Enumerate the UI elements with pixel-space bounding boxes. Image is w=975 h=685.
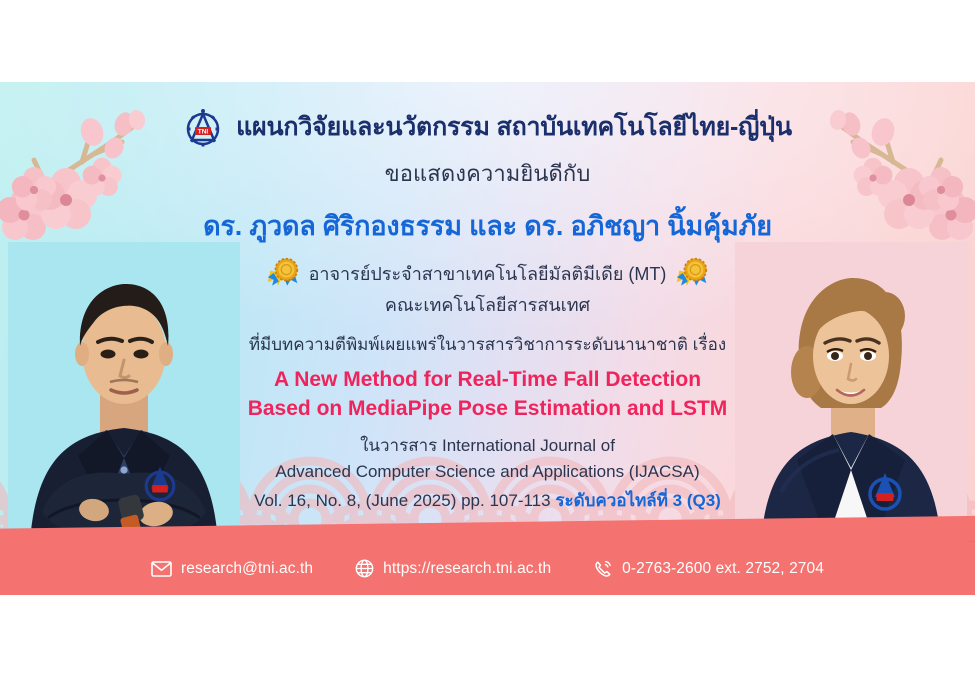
volume-line: Vol. 16, No. 8, (June 2025) pp. 107-113 … <box>254 487 721 514</box>
organization-title: แผนกวิจัยและนวัตกรรม สถาบันเทคโนโลยีไทย-… <box>236 107 792 147</box>
email-text: research@tni.ac.th <box>181 560 313 578</box>
department-text: อาจารย์ประจำสาขาเทคโนโลยีมัลติมีเดีย (MT… <box>309 259 667 288</box>
publication-intro: ที่มีบทความตีพิมพ์เผยแพร่ในวารสารวิชาการ… <box>249 331 726 358</box>
website-text: https://research.tni.ac.th <box>383 560 551 578</box>
organization-header: TNI แผนกวิจัยและนวัตกรรม สถาบันเทคโนโลยี… <box>183 104 792 150</box>
banner-content: TNI แผนกวิจัยและนวัตกรรม สถาบันเทคโนโลยี… <box>0 82 975 542</box>
envelope-icon <box>151 561 172 577</box>
quartile-badge: ระดับควอไทล์ที่ 3 (Q3) <box>555 491 721 510</box>
congratulation-banner: TNI แผนกวิจัยและนวัตกรรม สถาบันเทคโนโลยี… <box>0 82 975 595</box>
contact-phone[interactable]: 0-2763-2600 ext. 2752, 2704 <box>593 559 824 579</box>
journal-name: ในวารสาร International Journal of Advanc… <box>275 433 699 485</box>
journal-line-1: ในวารสาร International Journal of <box>275 433 699 459</box>
tni-logo-icon: TNI <box>183 104 223 150</box>
phone-text: 0-2763-2600 ext. 2752, 2704 <box>622 560 824 578</box>
faculty-text: คณะเทคโนโลยีสารสนเทศ <box>385 290 590 319</box>
paper-title: A New Method for Real-Time Fall Detectio… <box>248 366 728 424</box>
contact-row: research@tni.ac.th https://research.tni.… <box>0 542 975 595</box>
volume-info: Vol. 16, No. 8, (June 2025) pp. 107-113 <box>254 491 550 510</box>
journal-line-2: Advanced Computer Science and Applicatio… <box>275 459 699 485</box>
contact-website[interactable]: https://research.tni.ac.th <box>355 559 551 578</box>
medal-left-icon <box>266 257 300 289</box>
tni-logo-text: TNI <box>198 129 209 136</box>
contact-email[interactable]: research@tni.ac.th <box>151 560 313 578</box>
paper-title-line-2: Based on MediaPipe Pose Estimation and L… <box>248 395 728 424</box>
congratulation-text: ขอแสดงความยินดีกับ <box>385 156 591 191</box>
paper-title-line-1: A New Method for Real-Time Fall Detectio… <box>248 366 728 395</box>
medal-right-icon <box>675 257 709 289</box>
phone-ringing-icon <box>593 559 613 579</box>
globe-icon <box>355 559 374 578</box>
honoree-names: ดร. ภูวดล ศิริกองธรรม และ ดร. อภิชญา นิ้… <box>203 204 772 247</box>
department-line: อาจารย์ประจำสาขาเทคโนโลยีมัลติมีเดีย (MT… <box>266 257 710 289</box>
